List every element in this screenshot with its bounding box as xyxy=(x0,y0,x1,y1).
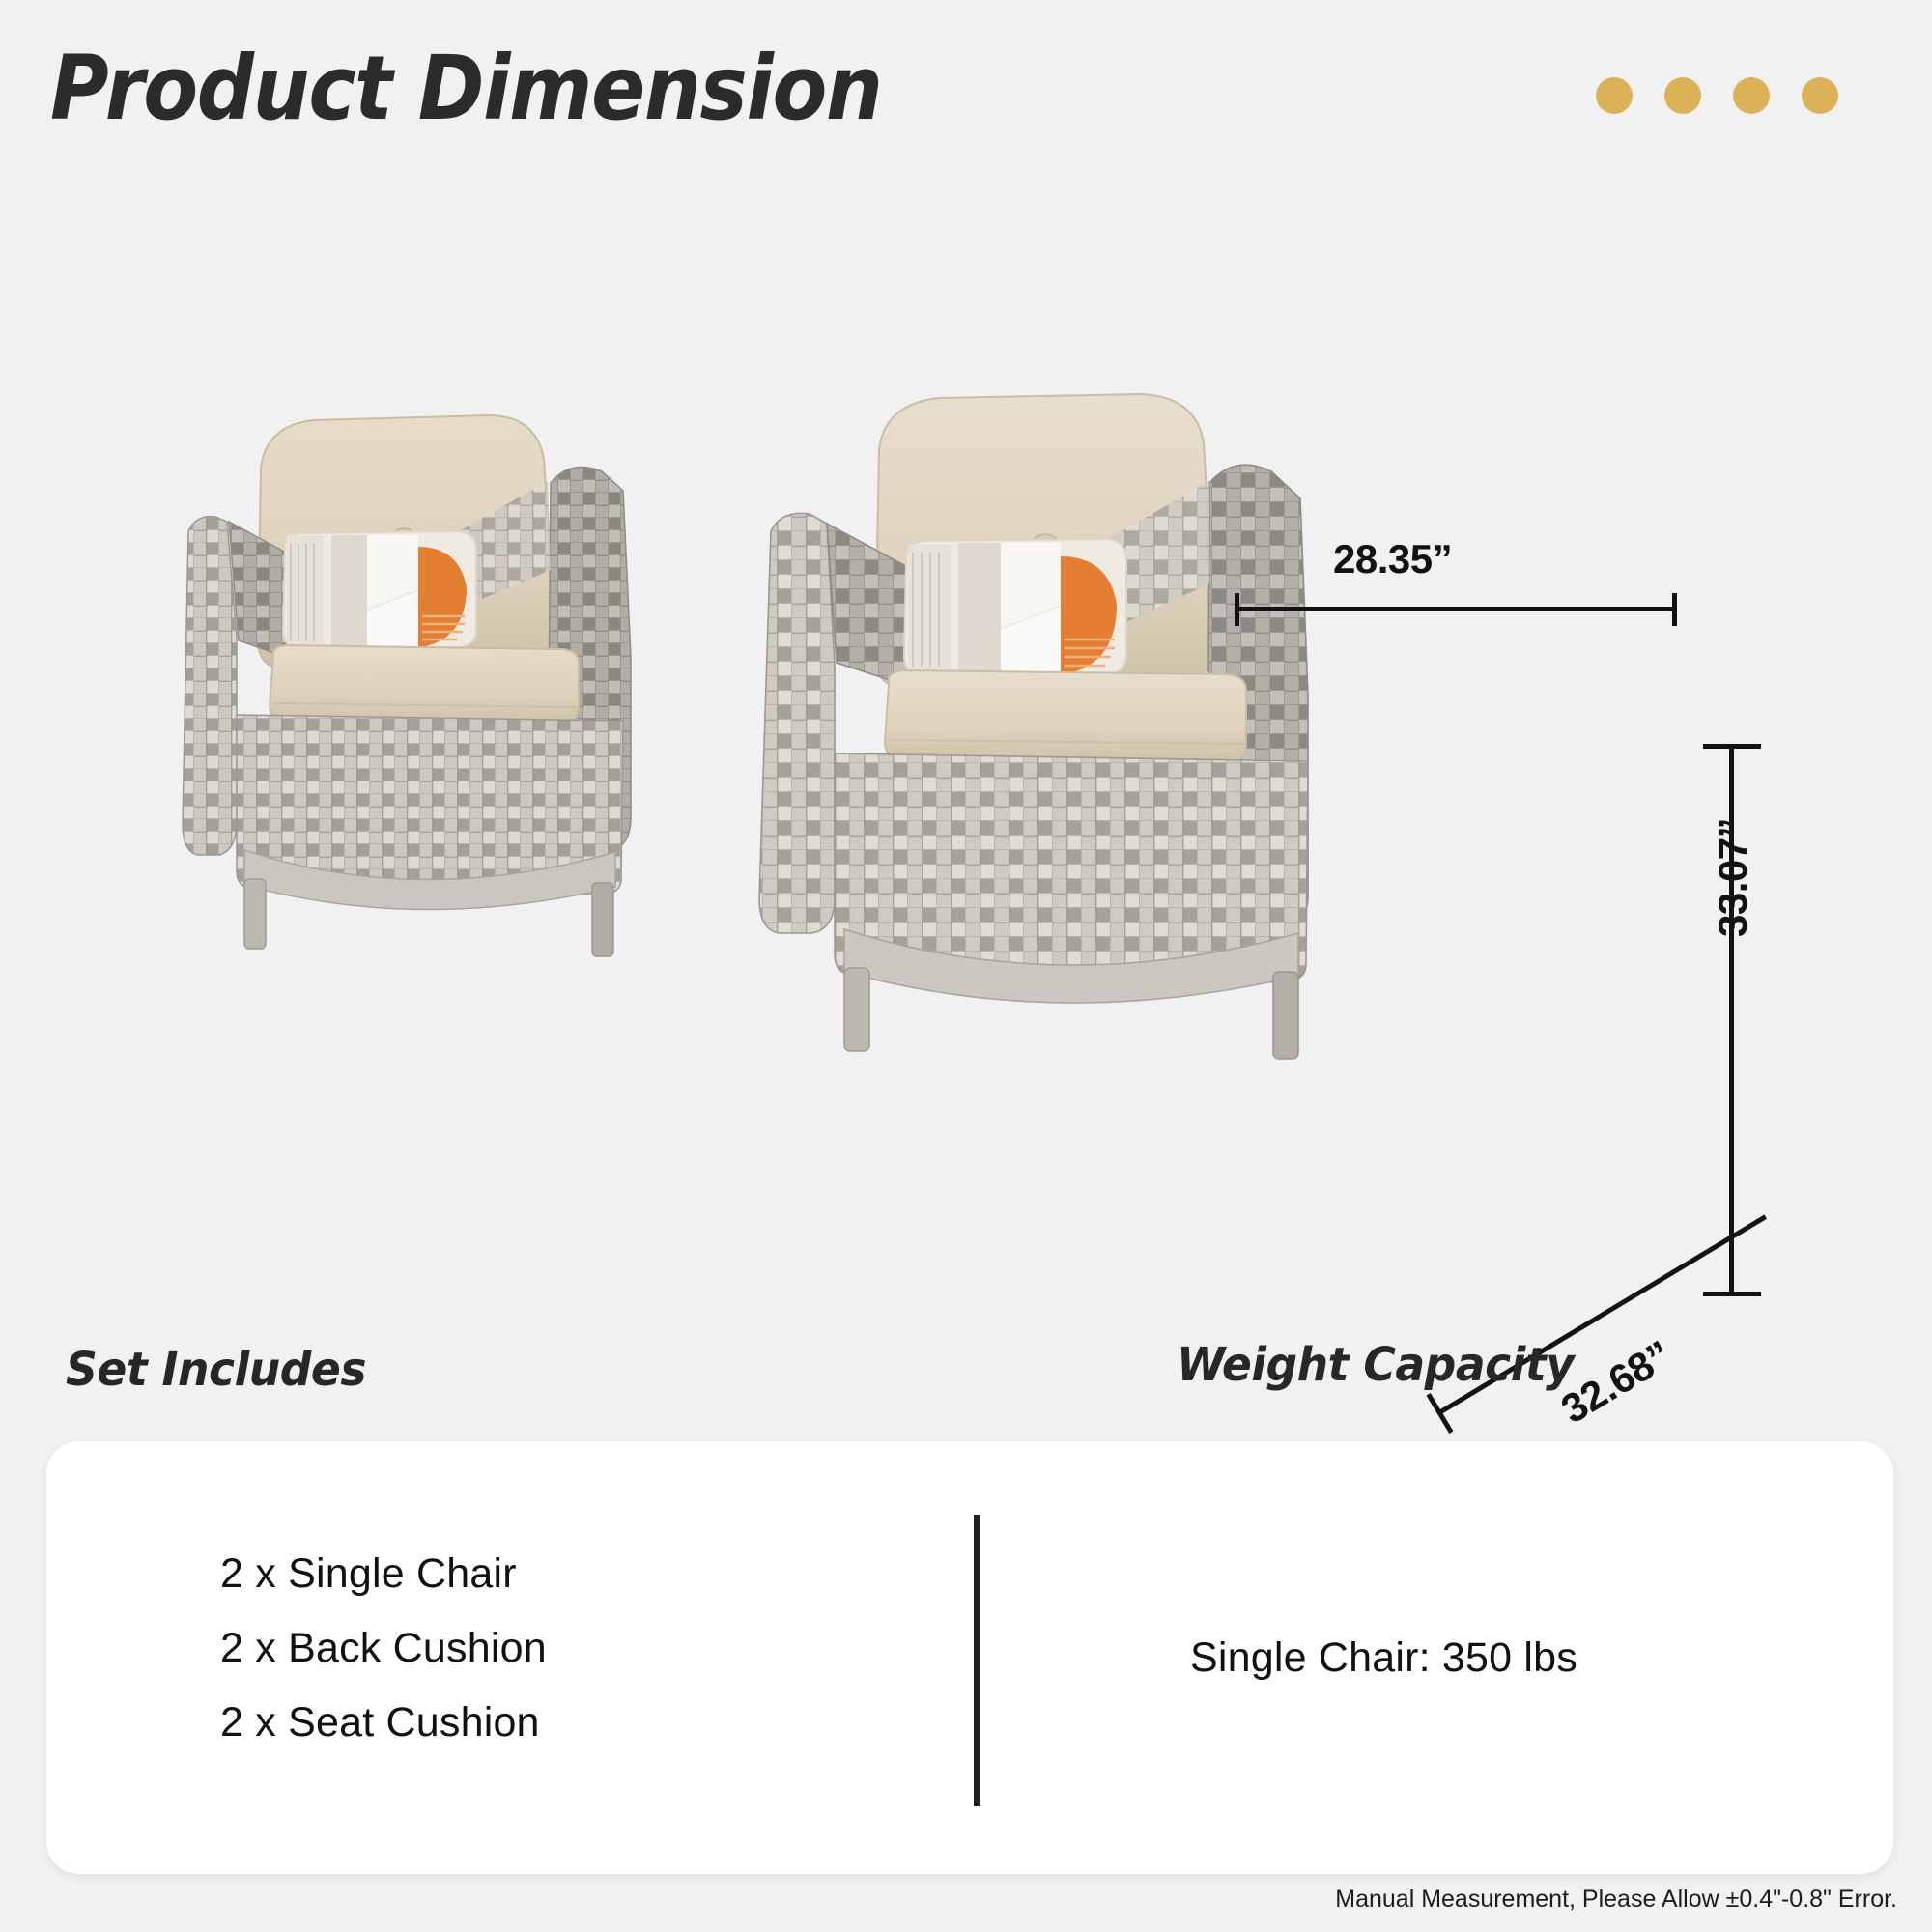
list-item: 2 x Single Chair xyxy=(220,1550,547,1598)
measurement-disclaimer: Manual Measurement, Please Allow ±0.4"-0… xyxy=(1335,1886,1897,1914)
set-includes-heading: Set Includes xyxy=(66,1343,366,1397)
product-chair-left-image xyxy=(169,367,710,1034)
weight-capacity-heading: Weight Capacity xyxy=(1177,1338,1574,1392)
set-includes-list: 2 x Single Chair 2 x Back Cushion 2 x Se… xyxy=(220,1550,547,1747)
decorative-dot-icon xyxy=(1664,77,1701,114)
height-dimension-label: 33.07” xyxy=(1710,818,1756,937)
decorative-dot-icon xyxy=(1733,77,1770,114)
page-title: Product Dimension xyxy=(50,37,882,140)
product-image-stage: 28.35” 33.07” 32.68” xyxy=(0,174,1932,1314)
width-dimension-cap-left xyxy=(1235,593,1239,626)
card-divider xyxy=(974,1515,980,1806)
weight-capacity-value: Single Chair: 350 lbs xyxy=(1190,1634,1577,1682)
list-item: 2 x Seat Cushion xyxy=(220,1699,547,1747)
product-chair-right-image xyxy=(734,357,1362,1159)
header-dot-group xyxy=(1596,77,1838,114)
list-item: 2 x Back Cushion xyxy=(220,1625,547,1672)
width-dimension-cap-right xyxy=(1672,593,1677,626)
width-dimension-line xyxy=(1235,589,1677,628)
product-dimension-infographic: Product Dimension xyxy=(0,0,1932,1932)
height-dimension-cap-top xyxy=(1703,744,1761,749)
decorative-dot-icon xyxy=(1596,77,1633,114)
width-dimension-label: 28.35” xyxy=(1333,536,1452,582)
depth-dimension-cap xyxy=(1427,1393,1454,1434)
decorative-dot-icon xyxy=(1802,77,1838,114)
width-dimension-bar xyxy=(1235,607,1677,611)
